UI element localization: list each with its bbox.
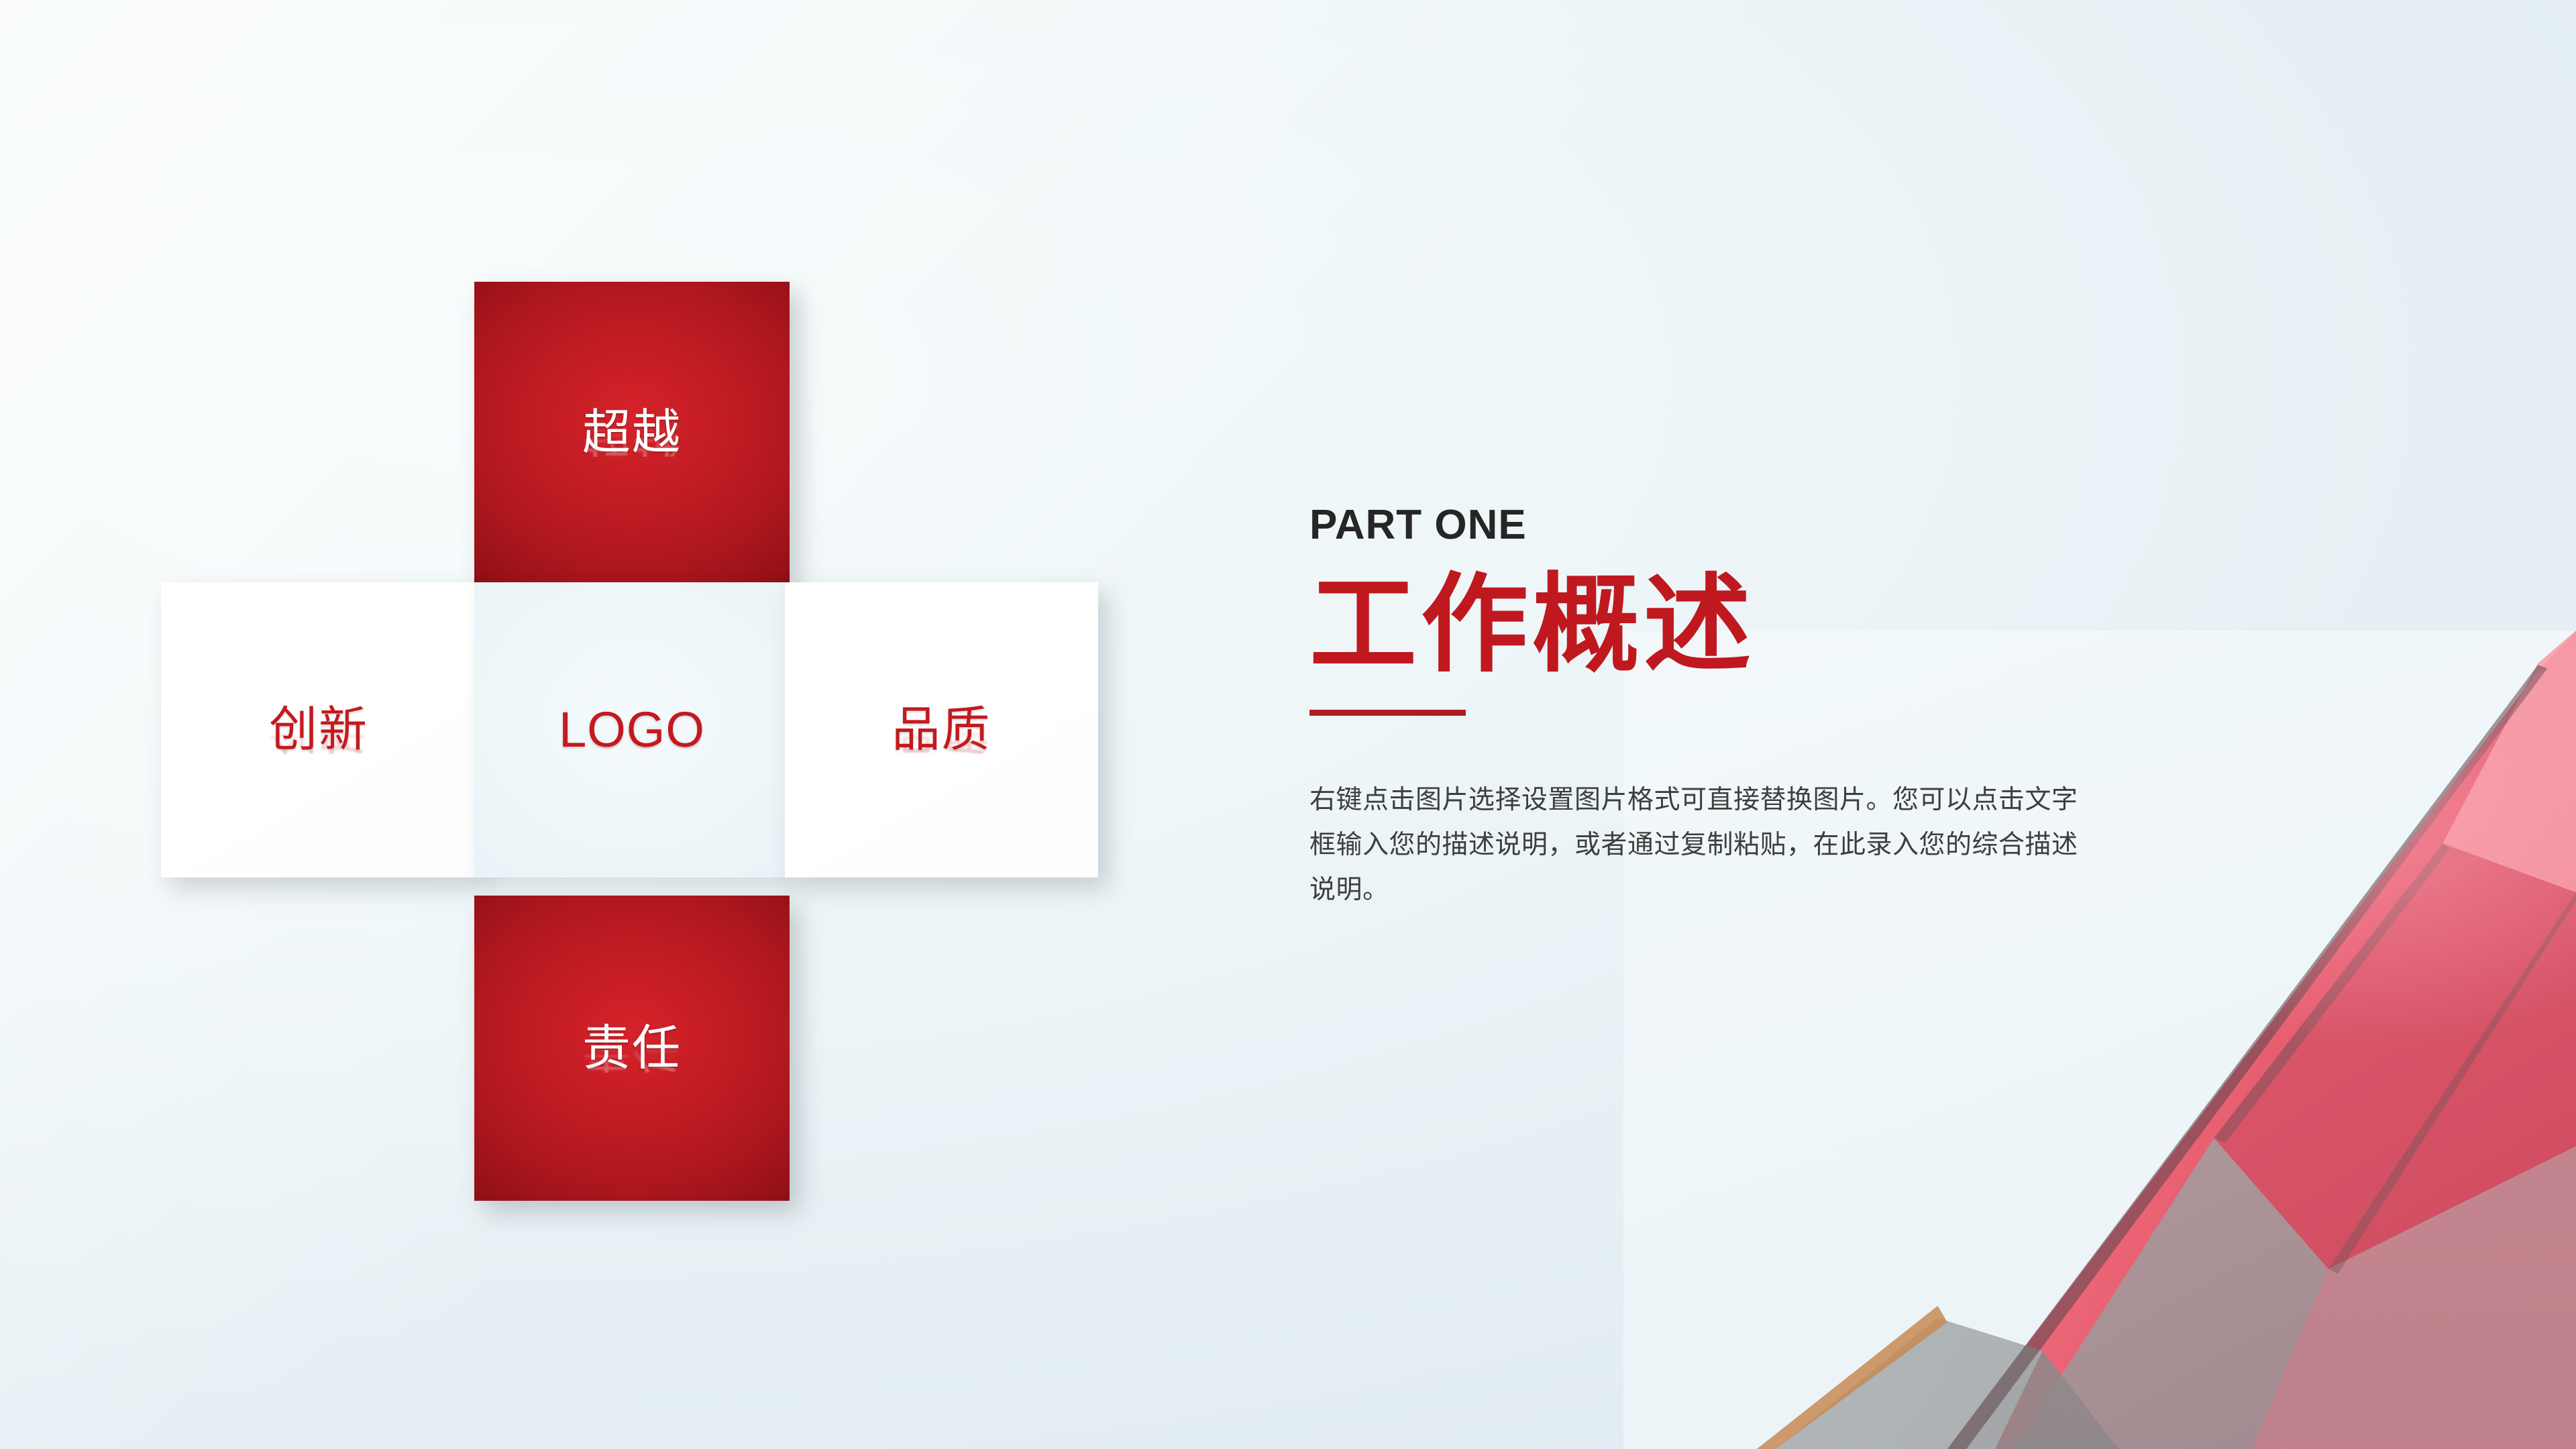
tile-label-bottom: 责任 bbox=[582, 1024, 682, 1073]
body-paragraph: 右键点击图片选择设置图片格式可直接替换图片。您可以点击文字框输入您的描述说明，或… bbox=[1309, 777, 2088, 912]
part-label: PART ONE bbox=[1309, 503, 2316, 547]
tile-label-right: 品质 bbox=[892, 706, 991, 754]
tile-zeren[interactable]: 责任 bbox=[474, 896, 790, 1201]
logo-placeholder-text: LOGO bbox=[559, 705, 705, 755]
tile-logo[interactable]: LOGO bbox=[474, 582, 790, 877]
slide-canvas: 超越 创新 LOGO 品质 责任 PART ONE 工作概述 右键点击图片选择设… bbox=[0, 0, 2576, 1449]
title-accent-rule bbox=[1309, 710, 1466, 716]
tile-label-top: 超越 bbox=[582, 409, 682, 457]
tile-chuangxin[interactable]: 创新 bbox=[161, 582, 476, 877]
tile-chaoyue[interactable]: 超越 bbox=[474, 282, 790, 584]
tile-pinzhi[interactable]: 品质 bbox=[785, 582, 1098, 877]
tile-label-left: 创新 bbox=[269, 706, 368, 754]
section-copy-block: PART ONE 工作概述 右键点击图片选择设置图片格式可直接替换图片。您可以点… bbox=[1309, 503, 2316, 913]
page-title: 工作概述 bbox=[1309, 570, 2316, 679]
